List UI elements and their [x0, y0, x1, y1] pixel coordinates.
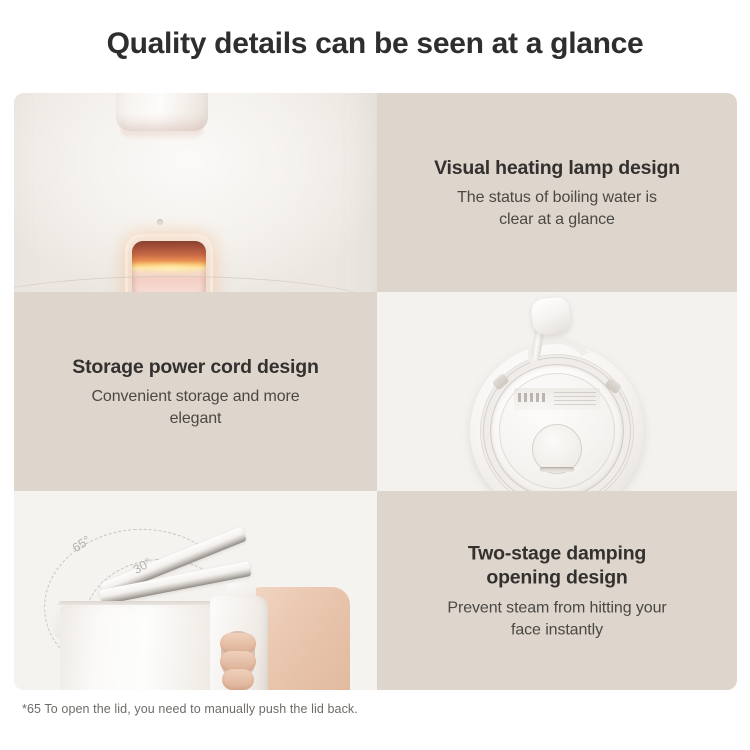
feature-subtext-storage-cord: Convenient storage and more elegant — [36, 386, 355, 429]
kettle-base-image — [377, 292, 737, 491]
subtext-line: Prevent steam from hitting your — [399, 598, 715, 619]
feature-heading-damping: Two-stage damping opening design — [399, 541, 715, 591]
base-center-slot — [540, 467, 574, 472]
subtext-line: clear at a glance — [399, 208, 715, 229]
subtext-line: elegant — [36, 407, 355, 428]
kettle-base-seam — [14, 276, 377, 292]
text-block: Visual heating lamp design The status of… — [377, 155, 737, 229]
cell-storage-cord-text: Storage power cord design Convenient sto… — [14, 292, 377, 491]
text-block: Storage power cord design Convenient sto… — [14, 354, 377, 428]
kettle-front-image — [14, 93, 377, 292]
page-title: Quality details can be seen at a glance — [0, 27, 750, 61]
heading-line: opening design — [399, 566, 715, 591]
feature-heading-heating-lamp: Visual heating lamp design — [399, 155, 715, 180]
screw-dot — [157, 219, 163, 225]
cell-heating-lamp-photo — [14, 93, 377, 292]
footnote: *65 To open the lid, you need to manuall… — [22, 702, 358, 716]
cell-heating-lamp-text: Visual heating lamp design The status of… — [377, 93, 737, 292]
kettle-neck-shadow — [120, 113, 204, 139]
cell-damping-text: Two-stage damping opening design Prevent… — [377, 491, 737, 690]
base-spec-label — [514, 388, 600, 410]
power-plug — [530, 296, 572, 336]
subtext-line: Convenient storage and more — [36, 386, 355, 407]
subtext-line: face instantly — [399, 619, 715, 640]
feature-heading-storage-cord: Storage power cord design — [36, 354, 355, 379]
text-block: Two-stage damping opening design Prevent… — [377, 541, 737, 640]
heading-line: Two-stage damping — [399, 541, 715, 566]
lid-angle-diagram: 65° 30° — [14, 491, 377, 690]
cell-lid-angle-photo: 65° 30° — [14, 491, 377, 690]
feature-subtext-heating-lamp: The status of boiling water is clear at … — [399, 187, 715, 230]
finger — [222, 669, 254, 690]
cell-base-underside-photo — [377, 292, 737, 491]
feature-subtext-damping: Prevent steam from hitting your face ins… — [399, 598, 715, 641]
feature-grid: Visual heating lamp design The status of… — [14, 93, 737, 690]
subtext-line: The status of boiling water is — [399, 187, 715, 208]
